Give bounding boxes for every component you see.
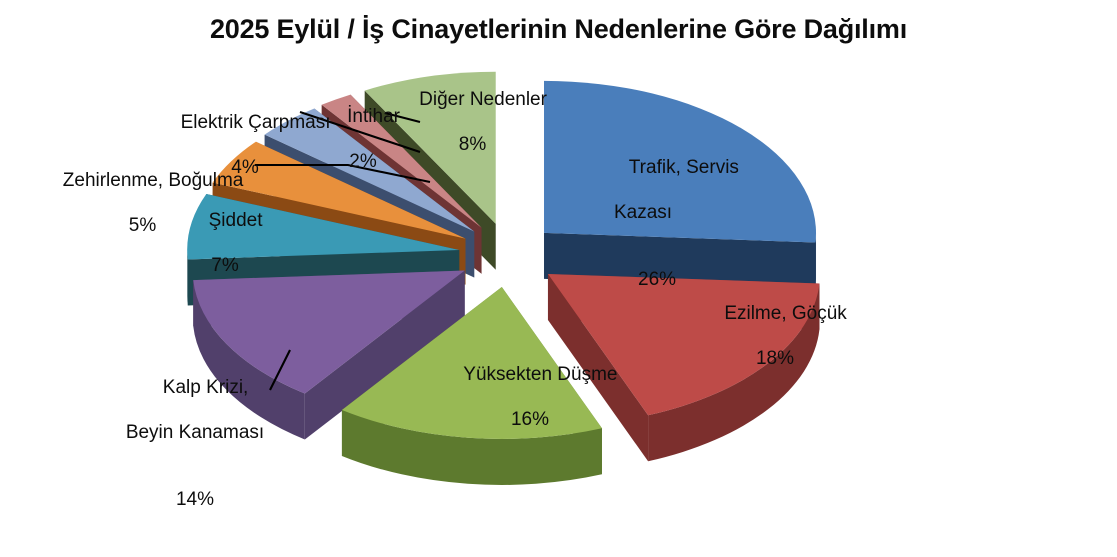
chart-canvas: 2025 Eylül / İş Cinayetlerinin Nedenleri… [0, 0, 1117, 525]
pie-slice-top[interactable] [544, 81, 816, 243]
pie-slice[interactable] [544, 81, 816, 289]
pie-chart-graphic [0, 0, 1117, 525]
